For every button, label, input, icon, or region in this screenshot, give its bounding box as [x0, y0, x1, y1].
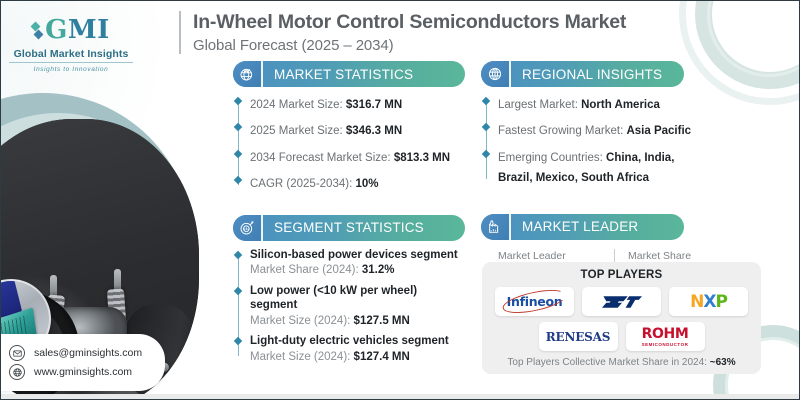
regional-insights-list: Largest Market: North America Fastest Gr… — [481, 94, 711, 188]
envelope-icon — [9, 345, 25, 361]
nxp-letter-n: N — [690, 292, 703, 312]
rohm-subtitle: SEMICONDUCTOR — [642, 343, 689, 348]
contact-website: www.gminsights.com — [34, 366, 132, 378]
stmicroelectronics-logo[interactable] — [582, 287, 661, 316]
rohm-logo[interactable]: ROHM SEMICONDUCTOR — [626, 322, 705, 351]
globe-icon — [9, 364, 25, 380]
top-players-logo-row-1: Infineon NXP — [491, 287, 752, 316]
globe-icon — [481, 61, 511, 87]
list-item: Light-duty electric vehicles segment Mar… — [250, 334, 465, 364]
stat-label: CAGR (2025-2034): — [250, 178, 355, 190]
target-chart-icon — [233, 215, 263, 241]
logo-tagline: Insights to Innovation — [9, 66, 133, 73]
nxp-logo[interactable]: NXP — [669, 287, 748, 316]
logo-company-name: Global Market Insights — [9, 48, 133, 63]
stat-value: $346.3 MN — [346, 125, 402, 137]
globe-chart-icon — [233, 61, 263, 87]
stat-label: 2034 Forecast Market Size: — [250, 152, 394, 164]
gmi-diamond-logo-icon — [32, 23, 42, 38]
page-subtitle: Global Forecast (2025 – 2034) — [193, 37, 626, 54]
footnote-label: Top Players Collective Market Share in 2… — [507, 357, 709, 368]
header-title-block: In-Wheel Motor Control Semiconductors Ma… — [179, 11, 626, 54]
stat-value: $813.3 MN — [394, 152, 450, 164]
segment-metric-value: $127.4 MN — [354, 351, 410, 363]
list-item: Fastest Growing Market: Asia Pacific — [498, 120, 711, 140]
section-header-market-leader: MARKET LEADER — [481, 214, 684, 240]
list-item: Low power (<10 kW per wheel) segment Mar… — [250, 284, 465, 328]
gmi-logo: GMI Global Market Insights Insights to I… — [9, 15, 133, 73]
rohm-wordmark: ROHM — [642, 326, 689, 342]
footnote-value: ~63% — [710, 357, 736, 368]
section-label: MARKET STATISTICS — [263, 67, 427, 82]
stat-label: 2025 Market Size: — [250, 125, 346, 137]
list-item: Largest Market: North America — [498, 94, 711, 114]
segment-metric-value: $127.5 MN — [354, 315, 410, 327]
contact-block: sales@gminsights.com www.gminsights.com — [0, 334, 165, 391]
stat-label: 2024 Market Size: — [250, 99, 346, 111]
stat-value: 10% — [355, 178, 378, 190]
logo-letter-g: G — [45, 15, 68, 45]
logo-letter-i: I — [97, 15, 110, 45]
segment-metric-value: 31.2% — [362, 264, 395, 276]
rohm-logo-text: ROHM SEMICONDUCTOR — [642, 326, 689, 348]
top-players-logo-row-2: RENESAS ROHM SEMICONDUCTOR — [491, 322, 752, 351]
market-statistics-list: 2024 Market Size: $316.7 MN 2025 Market … — [233, 94, 465, 194]
segment-name: Light-duty electric vehicles segment — [250, 334, 465, 348]
region-label: Fastest Growing Market: — [498, 125, 626, 137]
logo-letter-m: M — [68, 15, 97, 45]
st-logo-icon — [600, 292, 644, 312]
stat-value: $316.7 MN — [346, 99, 402, 111]
factory-chart-icon — [481, 214, 511, 240]
left-content-column: MARKET STATISTICS 2024 Market Size: $316… — [233, 61, 465, 365]
contact-email: sales@gminsights.com — [34, 347, 142, 359]
logo-mark: GMI — [9, 15, 133, 45]
region-value: North America — [581, 99, 660, 111]
infographic-canvas: GMI Global Market Insights Insights to I… — [0, 0, 800, 400]
list-item: 2024 Market Size: $316.7 MN — [250, 94, 465, 114]
region-label: Emerging Countries: — [498, 152, 606, 164]
top-players-title: TOP PLAYERS — [491, 269, 752, 281]
renesas-logo[interactable]: RENESAS — [539, 322, 618, 351]
list-item: Emerging Countries: China, India, Brazil… — [498, 147, 711, 188]
nxp-letter-x: X — [703, 292, 715, 312]
logo-wordmark: GMI — [45, 15, 110, 45]
section-label: MARKET LEADER — [511, 219, 652, 234]
nxp-logo-text: NXP — [690, 292, 727, 312]
section-header-regional-insights: REGIONAL INSIGHTS — [481, 61, 684, 87]
section-header-segment-statistics: SEGMENT STATISTICS — [233, 215, 465, 241]
infineon-logo-text: Infineon — [507, 294, 563, 309]
region-label: Largest Market: — [498, 99, 581, 111]
market-leader-key: Market Leader — [498, 249, 602, 263]
contact-email-row[interactable]: sales@gminsights.com — [9, 345, 155, 361]
list-item: Silicon-based power devices segment Mark… — [250, 248, 465, 278]
region-value: Asia Pacific — [626, 125, 691, 137]
renesas-logo-text: RENESAS — [546, 330, 610, 344]
infineon-logo[interactable]: Infineon — [495, 287, 574, 316]
right-content-column: REGIONAL INSIGHTS Largest Market: North … — [481, 61, 711, 291]
segment-metric-label: Market Size (2024): — [250, 315, 354, 327]
section-label: SEGMENT STATISTICS — [263, 220, 438, 235]
segment-name: Silicon-based power devices segment — [250, 248, 465, 262]
top-players-card: TOP PLAYERS Infineon NXP RENESAS — [482, 262, 761, 374]
page-title: In-Wheel Motor Control Semiconductors Ma… — [193, 11, 626, 33]
segment-metric-label: Market Share (2024): — [250, 264, 362, 276]
decorative-arc-top-right-inner — [707, 0, 800, 77]
list-item: 2034 Forecast Market Size: $813.3 MN — [250, 147, 465, 167]
bottom-bar — [1, 394, 800, 399]
section-label: REGIONAL INSIGHTS — [511, 67, 676, 82]
segment-name: Low power (<10 kW per wheel) segment — [250, 284, 465, 313]
segment-metric-label: Market Size (2024): — [250, 351, 354, 363]
list-item: 2025 Market Size: $346.3 MN — [250, 120, 465, 140]
top-players-footnote: Top Players Collective Market Share in 2… — [491, 357, 752, 368]
segment-statistics-list: Silicon-based power devices segment Mark… — [233, 248, 465, 365]
contact-website-row[interactable]: www.gminsights.com — [9, 364, 155, 380]
section-header-market-statistics: MARKET STATISTICS — [233, 61, 465, 87]
nxp-letter-p: P — [715, 292, 726, 312]
list-item: CAGR (2025-2034): 10% — [250, 173, 465, 193]
